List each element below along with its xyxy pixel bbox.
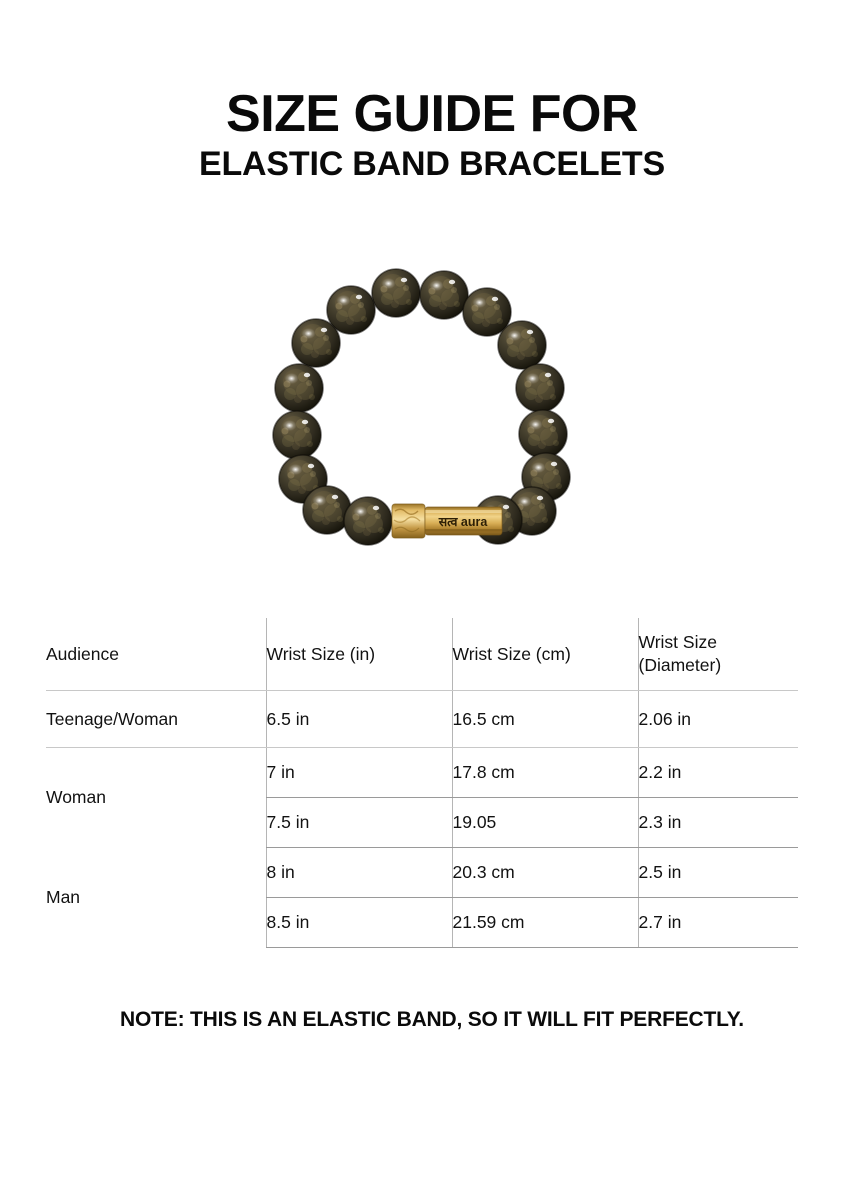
page-title: SIZE GUIDE FOR ELASTIC BAND BRACELETS bbox=[0, 86, 864, 184]
column-header-diameter-line-2: (Diameter) bbox=[639, 654, 799, 677]
table-row: Teenage/Woman 6.5 in 16.5 cm 2.06 in bbox=[46, 691, 798, 748]
column-header-wrist-in-label: Wrist Size (in) bbox=[267, 644, 376, 664]
table-row: Woman 7 in 17.8 cm 2.2 in bbox=[46, 748, 798, 798]
note-text: NOTE: THIS IS AN ELASTIC BAND, SO IT WIL… bbox=[0, 1008, 864, 1032]
cell-wrist-cm: 21.59 cm bbox=[452, 898, 638, 948]
cell-wrist-cm: 20.3 cm bbox=[452, 848, 638, 898]
column-header-diameter: Wrist Size (Diameter) bbox=[638, 618, 798, 691]
cell-wrist-in: 7.5 in bbox=[266, 798, 452, 848]
column-header-diameter-line-1: Wrist Size bbox=[639, 631, 799, 654]
column-header-audience-label: Audience bbox=[46, 644, 119, 664]
cell-audience: Teenage/Woman bbox=[46, 691, 266, 748]
cell-audience: Man bbox=[46, 848, 266, 948]
cell-diameter: 2.5 in bbox=[638, 848, 798, 898]
bracelet-illustration: सत्व aura bbox=[255, 255, 615, 575]
bracelet-product-image: सत्व aura bbox=[255, 255, 615, 575]
table-row: Man 8 in 20.3 cm 2.5 in bbox=[46, 848, 798, 898]
cell-wrist-in: 6.5 in bbox=[266, 691, 452, 748]
cell-wrist-cm: 16.5 cm bbox=[452, 691, 638, 748]
cell-audience: Woman bbox=[46, 748, 266, 848]
column-header-wrist-cm: Wrist Size (cm) bbox=[452, 618, 638, 691]
cell-wrist-cm: 19.05 bbox=[452, 798, 638, 848]
table-header-row: Audience Wrist Size (in) Wrist Size (cm)… bbox=[46, 618, 798, 691]
column-header-audience: Audience bbox=[46, 618, 266, 691]
cell-wrist-in: 8 in bbox=[266, 848, 452, 898]
cell-wrist-cm: 17.8 cm bbox=[452, 748, 638, 798]
cell-wrist-in: 7 in bbox=[266, 748, 452, 798]
clasp-engraving-text: सत्व aura bbox=[438, 515, 489, 529]
cell-wrist-in: 8.5 in bbox=[266, 898, 452, 948]
column-header-wrist-cm-label: Wrist Size (cm) bbox=[453, 644, 571, 664]
column-header-wrist-in: Wrist Size (in) bbox=[266, 618, 452, 691]
size-guide-table: Audience Wrist Size (in) Wrist Size (cm)… bbox=[46, 618, 798, 948]
bracelet-clasp: सत्व aura bbox=[392, 504, 502, 538]
page-title-line-2: ELASTIC BAND BRACELETS bbox=[0, 144, 864, 184]
cell-diameter: 2.3 in bbox=[638, 798, 798, 848]
cell-diameter: 2.2 in bbox=[638, 748, 798, 798]
page-title-line-1: SIZE GUIDE FOR bbox=[0, 86, 864, 142]
cell-diameter: 2.06 in bbox=[638, 691, 798, 748]
cell-diameter: 2.7 in bbox=[638, 898, 798, 948]
